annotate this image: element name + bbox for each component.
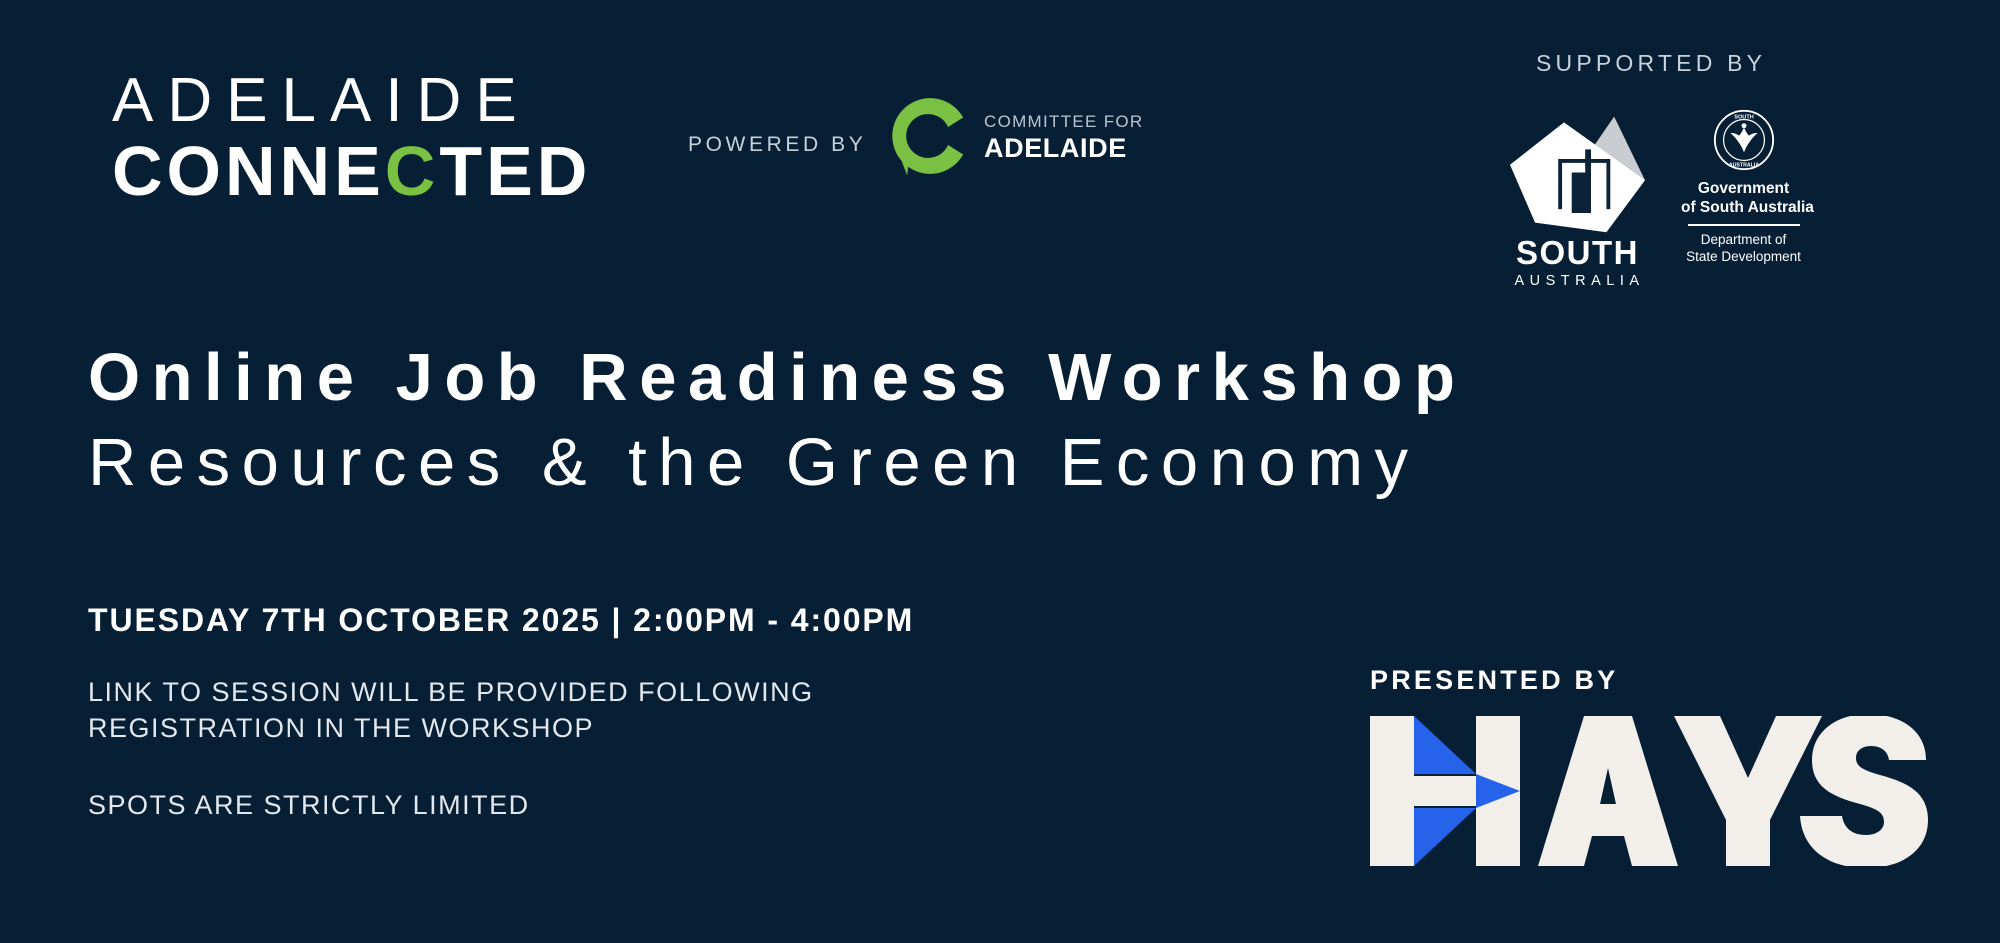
- detail-line-2: REGISTRATION IN THE WORKSHOP: [88, 711, 1088, 747]
- adelaide-connected-line1: ADELAIDE: [112, 70, 657, 132]
- government-divider: [1688, 224, 1800, 226]
- event-datetime: TUESDAY 7TH OCTOBER 2025 | 2:00PM - 4:00…: [88, 602, 914, 639]
- adelaide-connected-line2: CONNECTED: [112, 136, 657, 206]
- detail-spacer: [88, 746, 1088, 788]
- presented-by-label: PRESENTED BY: [1370, 665, 1930, 696]
- government-department-line2: State Development: [1681, 248, 1806, 266]
- south-australia-brand: SOUTH AUSTRALIA: [1500, 105, 1655, 289]
- supporter-logos: SOUTH AUSTRALIA SOUTH AUSTRALIA Governme…: [1500, 105, 1806, 289]
- page-title: Online Job Readiness Workshop Resources …: [88, 340, 1948, 500]
- title-line-1: Online Job Readiness Workshop: [88, 340, 1948, 415]
- powered-by-label: POWERED BY: [688, 133, 866, 157]
- adelaide-connected-accent-letter: C: [385, 132, 440, 210]
- committee-for-adelaide-c-mark: [884, 93, 970, 179]
- adelaide-connected-line2-after: TED: [439, 132, 591, 210]
- government-department-line1: Department of: [1681, 231, 1806, 249]
- committee-for-adelaide-logo: COMMITTEE FOR ADELAIDE: [884, 93, 1144, 179]
- event-banner: ADELAIDE CONNECTED POWERED BY COMMITTEE …: [0, 0, 2000, 943]
- supported-by-label: SUPPORTED BY: [1536, 50, 1766, 77]
- government-of-south-australia-logo: SOUTH AUSTRALIA Government of South Aust…: [1681, 105, 1806, 266]
- government-line2: of South Australia: [1681, 198, 1806, 217]
- adelaide-connected-logo: ADELAIDE CONNECTED: [112, 70, 657, 206]
- committee-for-adelaide-line1: COMMITTEE FOR: [984, 113, 1144, 132]
- svg-text:AUSTRALIA: AUSTRALIA: [1728, 163, 1759, 169]
- committee-for-adelaide-line2: ADELAIDE: [984, 134, 1144, 164]
- title-line-2: Resources & the Green Economy: [88, 425, 1948, 500]
- header-bar: ADELAIDE CONNECTED POWERED BY COMMITTEE …: [0, 0, 2000, 300]
- svg-text:SOUTH: SOUTH: [1734, 114, 1754, 120]
- detail-line-1: LINK TO SESSION WILL BE PROVIDED FOLLOWI…: [88, 675, 1088, 711]
- south-australia-line2: AUSTRALIA: [1500, 274, 1655, 289]
- adelaide-connected-line2-before: CONNE: [112, 132, 385, 210]
- south-australia-brand-mark: [1500, 105, 1655, 240]
- hays-logo: [1370, 716, 1930, 866]
- government-line1: Government: [1681, 179, 1806, 198]
- detail-line-3: SPOTS ARE STRICTLY LIMITED: [88, 788, 1088, 824]
- south-australia-line1: SOUTH: [1500, 236, 1655, 269]
- event-details: LINK TO SESSION WILL BE PROVIDED FOLLOWI…: [88, 675, 1088, 824]
- committee-for-adelaide-text: COMMITTEE FOR ADELAIDE: [984, 109, 1144, 163]
- government-of-south-australia-crest: SOUTH AUSTRALIA: [1713, 109, 1775, 171]
- presenter-block: PRESENTED BY: [1370, 665, 1930, 866]
